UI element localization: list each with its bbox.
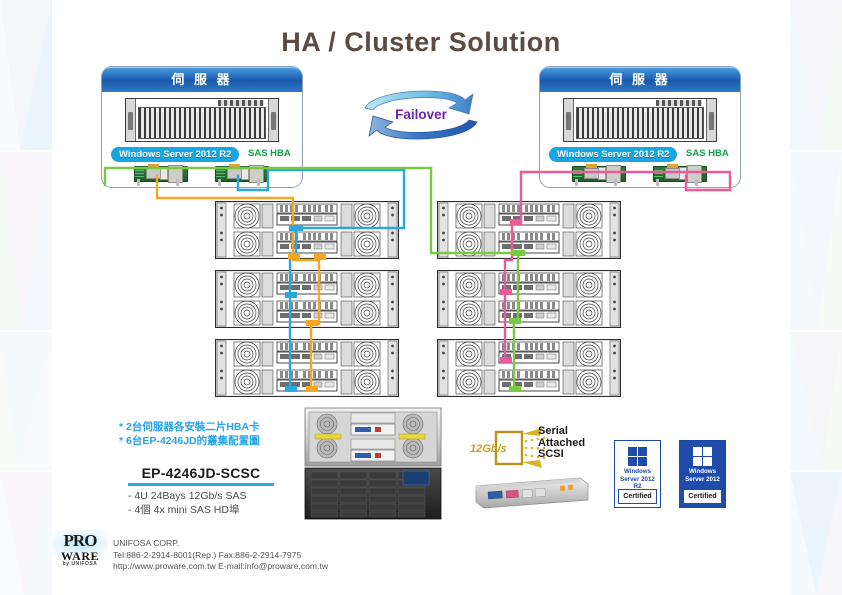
footer-company: UNIFOSA CORP. xyxy=(113,538,328,550)
server-body-left: Windows Server 2012 R2 SAS HBA xyxy=(102,92,302,187)
enclosure-r2c1 xyxy=(215,270,399,328)
sas-logo-text: Serial Attached SCSI xyxy=(538,426,585,461)
product-specs: - 4U 24Bays 12Gb/s SAS - 4個 4x mini SAS … xyxy=(128,489,246,517)
server-box-left: 伺 服 器 Windows Server 2012 R2 SAS HBA xyxy=(101,66,303,188)
footer-web: http://www.proware.com.tw E-mail:info@pr… xyxy=(113,561,328,573)
right-decorative-border xyxy=(790,0,842,595)
svg-text:12Gb/s: 12Gb/s xyxy=(470,443,507,455)
server-header-left: 伺 服 器 xyxy=(102,67,302,92)
page-title: HA / Cluster Solution xyxy=(0,27,842,58)
server-header-right: 伺 服 器 xyxy=(540,67,740,92)
enclosure-r1c1 xyxy=(215,201,399,259)
left-decorative-border xyxy=(0,0,52,595)
controller-module-photo xyxy=(472,472,592,514)
proware-logo: PRO WARE by UNIFOSA xyxy=(52,530,108,568)
windows-logo-icon-1 xyxy=(628,447,647,466)
config-note-1: * 2台伺服器各安裝二片HBA卡 xyxy=(119,420,260,434)
config-note-2: * 6台EP-4246JD的叢集配置圖 xyxy=(119,434,260,448)
sas-line-1: Serial xyxy=(538,426,585,438)
os-badge-right: Windows Server 2012 R2 xyxy=(549,147,677,162)
hba-card-right-1 xyxy=(572,166,624,183)
product-photo xyxy=(303,406,443,521)
enclosure-r2c2 xyxy=(437,270,621,328)
windows-badge-1-line1: Windows xyxy=(615,468,660,476)
rack-server-icon-left xyxy=(125,98,279,142)
product-spec-2: - 4個 4x mini SAS HD埠 xyxy=(128,503,246,517)
hba-card-left-2 xyxy=(215,166,267,183)
sas-hba-label-right: SAS HBA xyxy=(686,148,729,159)
failover-graphic: Failover xyxy=(355,84,487,146)
product-model-name: EP-4246JD-SCSC xyxy=(126,465,276,481)
product-divider xyxy=(128,483,274,486)
enclosure-r1c2 xyxy=(437,201,621,259)
os-badge-left: Windows Server 2012 R2 xyxy=(111,147,239,162)
windows-badge-2012: Windows Server 2012 Certified xyxy=(679,440,726,508)
enclosure-r3c1 xyxy=(215,339,399,397)
server-box-right: 伺 服 器 Windows Server 2012 R2 SAS HBA xyxy=(539,66,741,188)
windows-badge-2-certified: Certified xyxy=(683,489,722,504)
failover-label: Failover xyxy=(355,107,487,122)
hba-card-right-2 xyxy=(653,166,705,183)
hba-card-left-1 xyxy=(134,166,186,183)
config-notes: * 2台伺服器各安裝二片HBA卡 * 6台EP-4246JD的叢集配置圖 xyxy=(119,420,260,448)
server-body-right: Windows Server 2012 R2 SAS HBA xyxy=(540,92,740,187)
footer-phone: Tel:886-2-2914-8001(Rep.) Fax:886-2-2914… xyxy=(113,550,328,562)
logo-pro-text: PRO xyxy=(52,531,108,551)
windows-badge-1-certified: Certified xyxy=(618,489,657,504)
logo-by-text: by UNIFOSA xyxy=(52,561,108,567)
windows-logo-icon-2 xyxy=(693,447,712,466)
product-spec-1: - 4U 24Bays 12Gb/s SAS xyxy=(128,489,246,503)
sas-line-3: SCSI xyxy=(538,449,585,461)
windows-badge-2-line2: Server 2012 xyxy=(680,476,725,484)
windows-badge-2-line1: Windows xyxy=(680,468,725,476)
footer-contact: UNIFOSA CORP. Tel:886-2-2914-8001(Rep.) … xyxy=(113,538,328,573)
windows-badge-2012-r2: Windows Server 2012 R2 Certified xyxy=(614,440,661,508)
enclosure-r3c2 xyxy=(437,339,621,397)
rack-server-icon-right xyxy=(563,98,717,142)
sas-hba-label-left: SAS HBA xyxy=(248,148,291,159)
